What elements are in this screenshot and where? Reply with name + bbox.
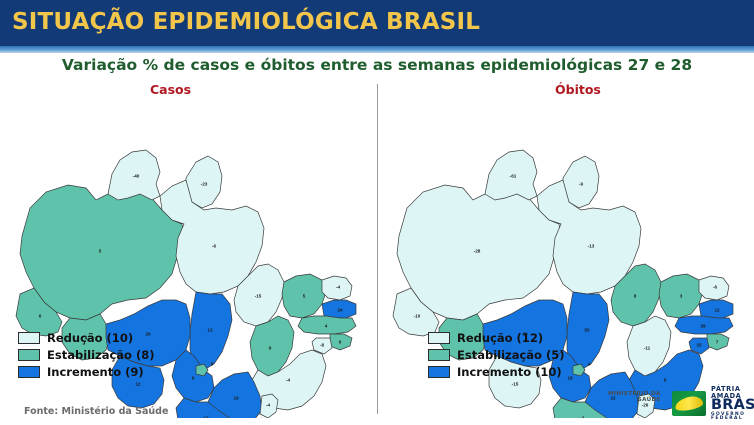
legend-label-estabilizacao: Estabilização (8) bbox=[47, 348, 154, 362]
governo-logo-text: PÁTRIA AMADA BRASIL GOVERNO FEDERAL bbox=[711, 386, 754, 422]
state-value-rr: -61 bbox=[510, 174, 517, 179]
state-value-mg: 19 bbox=[233, 396, 239, 401]
state-value-df: 8 bbox=[211, 362, 214, 367]
legend-swatch-reducao bbox=[428, 332, 450, 344]
legend-row-reducao: Redução (10) bbox=[18, 330, 154, 345]
state-am bbox=[20, 185, 184, 320]
state-value-ma: 8 bbox=[634, 294, 637, 299]
state-value-pa: -13 bbox=[588, 244, 595, 249]
legend-label-reducao: Redução (10) bbox=[47, 331, 133, 345]
page-title: SITUAÇÃO EPIDEMIOLÓGICA BRASIL bbox=[12, 9, 480, 35]
legend-row-incremento: Incremento (9) bbox=[18, 364, 154, 379]
legend-swatch-incremento bbox=[18, 366, 40, 378]
legend-swatch-estabilizacao bbox=[18, 349, 40, 361]
gov-line-3: GOVERNO FEDERAL bbox=[711, 413, 754, 422]
state-value-al: 6 bbox=[339, 340, 342, 345]
state-value-rn: -4 bbox=[336, 285, 341, 290]
legend-label-incremento: Incremento (10) bbox=[457, 365, 562, 379]
state-value-ma: -15 bbox=[255, 294, 262, 299]
legend-obitos: Redução (12)Estabilização (5)Incremento … bbox=[428, 330, 564, 381]
ministerio-line-2: SAÚDE bbox=[608, 398, 661, 404]
state-value-pi: 9 bbox=[269, 346, 272, 351]
state-value-se: -8 bbox=[320, 343, 325, 348]
state-value-es: -4 bbox=[266, 403, 271, 408]
state-value-pe: 29 bbox=[700, 324, 706, 329]
state-value-pa: -6 bbox=[212, 244, 217, 249]
legend-row-reducao: Redução (12) bbox=[428, 330, 564, 345]
state-value-rn: -6 bbox=[713, 285, 718, 290]
state-value-pe: 4 bbox=[325, 324, 328, 329]
state-value-ba: 9 bbox=[664, 378, 667, 383]
state-value-pb: 24 bbox=[337, 308, 343, 313]
legend-label-reducao: Redução (12) bbox=[457, 331, 543, 345]
state-value-am: 5 bbox=[99, 249, 102, 254]
state-value-to: 50 bbox=[584, 328, 590, 333]
state-value-se: 15 bbox=[696, 343, 702, 348]
state-value-sp: 12 bbox=[203, 416, 209, 418]
state-value-rr: -40 bbox=[133, 174, 140, 179]
header-accent-band bbox=[0, 46, 754, 53]
state-value-ms: 12 bbox=[135, 382, 141, 387]
state-value-pi: -11 bbox=[644, 346, 651, 351]
state-value-df: 4 bbox=[588, 362, 591, 367]
state-value-ms: -15 bbox=[512, 382, 519, 387]
legend-swatch-estabilizacao bbox=[428, 349, 450, 361]
state-value-ap: -9 bbox=[579, 182, 584, 187]
legend-swatch-incremento bbox=[428, 366, 450, 378]
state-value-ce: 3 bbox=[680, 294, 683, 299]
state-value-ap: -23 bbox=[201, 182, 208, 187]
source-note: Fonte: Ministério da Saúde bbox=[24, 406, 168, 417]
legend-row-estabilizacao: Estabilização (5) bbox=[428, 347, 564, 362]
state-value-sp: 2 bbox=[582, 416, 585, 418]
header-bar: SITUAÇÃO EPIDEMIOLÓGICA BRASIL bbox=[0, 0, 754, 46]
state-value-to: 13 bbox=[207, 328, 213, 333]
ministerio-saude-logo: MINISTÉRIO DA SAÚDE bbox=[608, 392, 661, 404]
legend-swatch-reducao bbox=[18, 332, 40, 344]
legend-label-incremento: Incremento (9) bbox=[47, 365, 144, 379]
slide-root: SITUAÇÃO EPIDEMIOLÓGICA BRASIL Variação … bbox=[0, 0, 754, 425]
state-value-am: -28 bbox=[474, 249, 481, 254]
state-value-go: 18 bbox=[567, 376, 573, 381]
legend-row-incremento: Incremento (10) bbox=[428, 364, 564, 379]
legend-row-estabilizacao: Estabilização (8) bbox=[18, 347, 154, 362]
governo-federal-logo: PÁTRIA AMADA BRASIL GOVERNO FEDERAL bbox=[672, 386, 754, 422]
state-value-al: 7 bbox=[716, 340, 719, 345]
state-value-pb: 12 bbox=[714, 308, 720, 313]
legend-label-estabilizacao: Estabilização (5) bbox=[457, 348, 564, 362]
state-value-ac: -10 bbox=[414, 314, 421, 319]
state-value-ac: 6 bbox=[39, 314, 42, 319]
gov-line-2: BRASIL bbox=[711, 398, 754, 413]
state-value-go: 9 bbox=[192, 376, 195, 381]
legend-casos: Redução (10)Estabilização (8)Incremento … bbox=[18, 330, 154, 381]
chart-subtitle: Variação % de casos e óbitos entre as se… bbox=[0, 56, 754, 74]
brasil-flag-icon bbox=[672, 391, 706, 416]
state-value-ce: 5 bbox=[303, 294, 306, 299]
state-value-ba: -4 bbox=[286, 378, 291, 383]
